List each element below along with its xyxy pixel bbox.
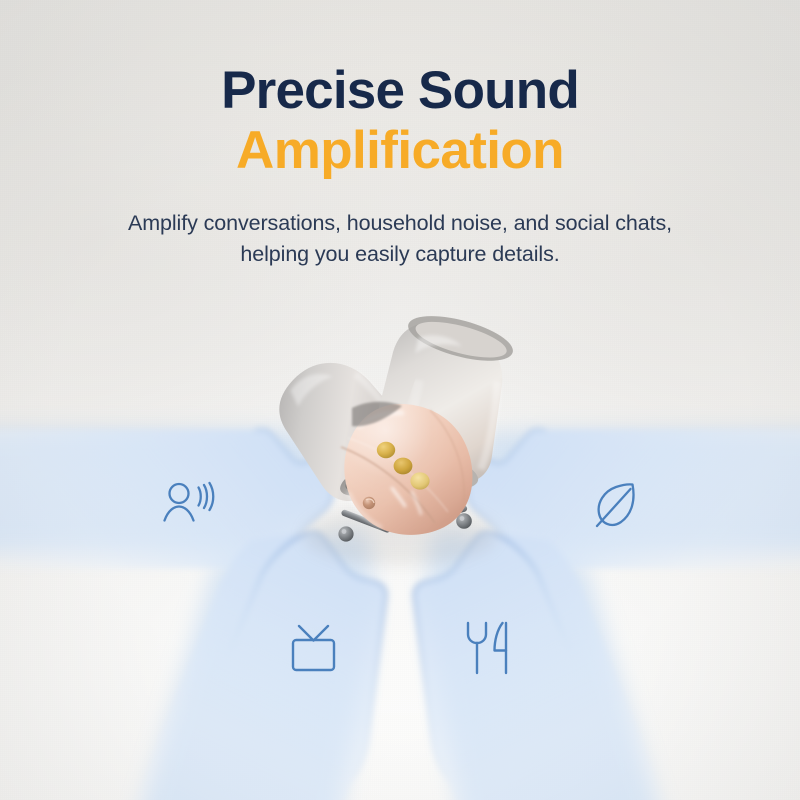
headline-line-primary: Precise Sound xyxy=(0,62,800,119)
subheadline-line-1: Amplify conversations, household noise, … xyxy=(55,208,745,239)
gold-contact-dot xyxy=(377,442,395,458)
subheadline-block: Amplify conversations, household noise, … xyxy=(55,208,745,269)
product-marketing-poster: Precise Sound Amplification Amplify conv… xyxy=(0,0,800,800)
headline-block: Precise Sound Amplification xyxy=(0,62,800,181)
gold-contact-dot xyxy=(394,458,413,475)
gold-contact-dot xyxy=(410,472,429,489)
headline-line-accent: Amplification xyxy=(0,121,800,180)
subheadline-line-2: helping you easily capture details. xyxy=(55,239,745,270)
